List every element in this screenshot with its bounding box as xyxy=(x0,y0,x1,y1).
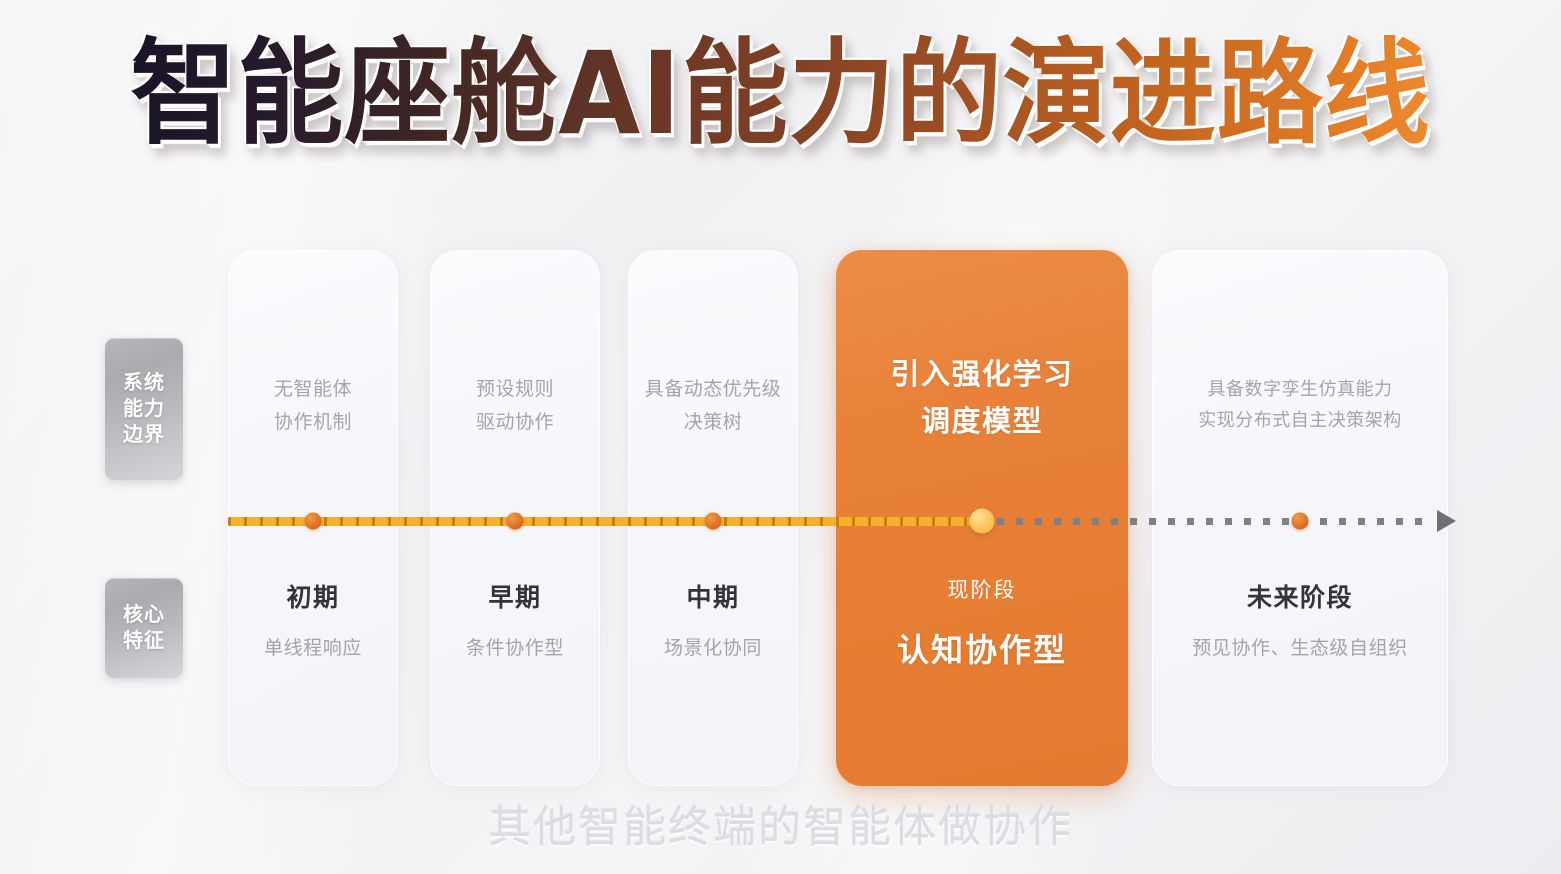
stage-capability-text: 引入强化学习 调度模型 xyxy=(836,352,1128,446)
page-title: 智能座舱AI能力的演进路线 xyxy=(130,31,1430,157)
stage-capability-line2: 调度模型 xyxy=(836,399,1128,446)
stage-feature-block: 现阶段 认知协作型 xyxy=(836,580,1128,671)
timeline-arrow-icon xyxy=(1437,510,1456,532)
timeline-future-segment xyxy=(978,518,1430,525)
page-title-container: 智能座舱AI能力的演进路线 xyxy=(0,36,1561,176)
row-label-system-capability: 系统 能力 边界 xyxy=(105,338,183,480)
stage-capability-line2: 决策树 xyxy=(628,407,798,440)
stage-subtitle: 认知协作型 xyxy=(836,625,1128,671)
stage-subtitle: 单线程响应 xyxy=(228,633,398,660)
row-label-feature-line2: 特征 xyxy=(123,628,165,654)
bottom-caption: 其他智能终端的智能体做协作 xyxy=(0,793,1561,855)
stage-capability-line1: 引入强化学习 xyxy=(836,352,1128,399)
stage-subtitle: 条件协作型 xyxy=(430,633,600,660)
stage-title: 现阶段 xyxy=(836,580,1128,601)
timeline-past-segment xyxy=(228,517,978,526)
timeline-milestone-dot[interactable] xyxy=(507,513,524,530)
stage-capability-text: 预设规则 驱动协作 xyxy=(430,374,600,439)
stage-title: 中期 xyxy=(628,586,798,611)
timeline-milestone-dot[interactable] xyxy=(305,513,322,530)
stage-feature-block: 早期 条件协作型 xyxy=(430,586,600,660)
stage-feature-block: 未来阶段 预见协作、生态级自组织 xyxy=(1152,586,1448,660)
stage-capability-text: 具备数字孪生仿真能力 实现分布式自主决策架构 xyxy=(1152,374,1448,436)
evolution-timeline xyxy=(228,517,1456,527)
row-label-capability-text: 系统 能力 边界 xyxy=(123,370,165,448)
stage-subtitle: 预见协作、生态级自组织 xyxy=(1152,633,1448,660)
row-label-feature-line1: 核心 xyxy=(123,602,165,628)
stage-capability-line1: 具备动态优先级 xyxy=(628,374,798,407)
stage-subtitle: 场景化协同 xyxy=(628,633,798,660)
stage-capability-line1: 预设规则 xyxy=(430,374,600,407)
stage-capability-line1: 无智能体 xyxy=(228,374,398,407)
stage-capability-text: 具备动态优先级 决策树 xyxy=(628,374,798,439)
timeline-milestone-dot[interactable] xyxy=(705,513,722,530)
stage-capability-line1: 具备数字孪生仿真能力 xyxy=(1152,374,1448,405)
stage-capability-line2: 实现分布式自主决策架构 xyxy=(1152,405,1448,436)
stage-feature-block: 中期 场景化协同 xyxy=(628,586,798,660)
stage-feature-block: 初期 单线程响应 xyxy=(228,586,398,660)
row-label-feature-text: 核心 特征 xyxy=(123,602,165,654)
stage-title: 初期 xyxy=(228,586,398,611)
row-label-core-feature: 核心 特征 xyxy=(105,578,183,678)
row-label-capability-line1: 系统 xyxy=(123,370,165,396)
timeline-milestone-dot[interactable] xyxy=(1292,513,1309,530)
stage-capability-line2: 驱动协作 xyxy=(430,407,600,440)
stage-title: 早期 xyxy=(430,586,600,611)
row-label-capability-line2: 能力 xyxy=(123,396,165,422)
row-label-capability-line3: 边界 xyxy=(123,422,165,448)
stage-capability-text: 无智能体 协作机制 xyxy=(228,374,398,439)
stage-capability-line2: 协作机制 xyxy=(228,407,398,440)
stage-title: 未来阶段 xyxy=(1152,586,1448,611)
timeline-current-milestone-dot[interactable] xyxy=(970,509,995,534)
